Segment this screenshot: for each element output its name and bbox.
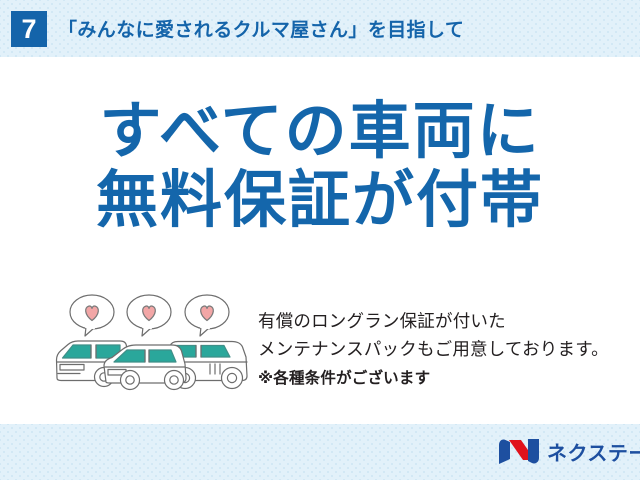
description-line-2: メンテナンスパックもご用意しております。 (258, 335, 630, 363)
heart-speech-bubble (127, 295, 171, 336)
header-title: 「みんなに愛されるクルマ屋さん」を目指して (58, 15, 464, 42)
description-note: ※各種条件がございます (258, 366, 630, 391)
three-cars-with-hearts-illustration (44, 292, 254, 396)
description-text: 有償のロングラン保証が付いた メンテナンスパックもご用意しております。 ※各種条… (258, 307, 630, 391)
headline-line-2: 無料保証が付帯 (0, 169, 640, 232)
heart-speech-bubble (70, 295, 114, 336)
step-number-badge: 7 (11, 11, 47, 47)
brand-logo: ネクステージ (498, 437, 640, 465)
description-line-1: 有償のロングラン保証が付いた (258, 307, 630, 335)
headline-line-1: すべての車両に (0, 100, 640, 163)
brand-name: ネクステージ (547, 437, 640, 466)
nextage-n-logo-icon (498, 438, 540, 465)
heart-speech-bubble (185, 295, 229, 336)
page-title: すべての車両に 無料保証が付帯 (0, 100, 640, 232)
promotional-banner: 7 「みんなに愛されるクルマ屋さん」を目指して すべての車両に 無料保証が付帯 (0, 0, 640, 480)
